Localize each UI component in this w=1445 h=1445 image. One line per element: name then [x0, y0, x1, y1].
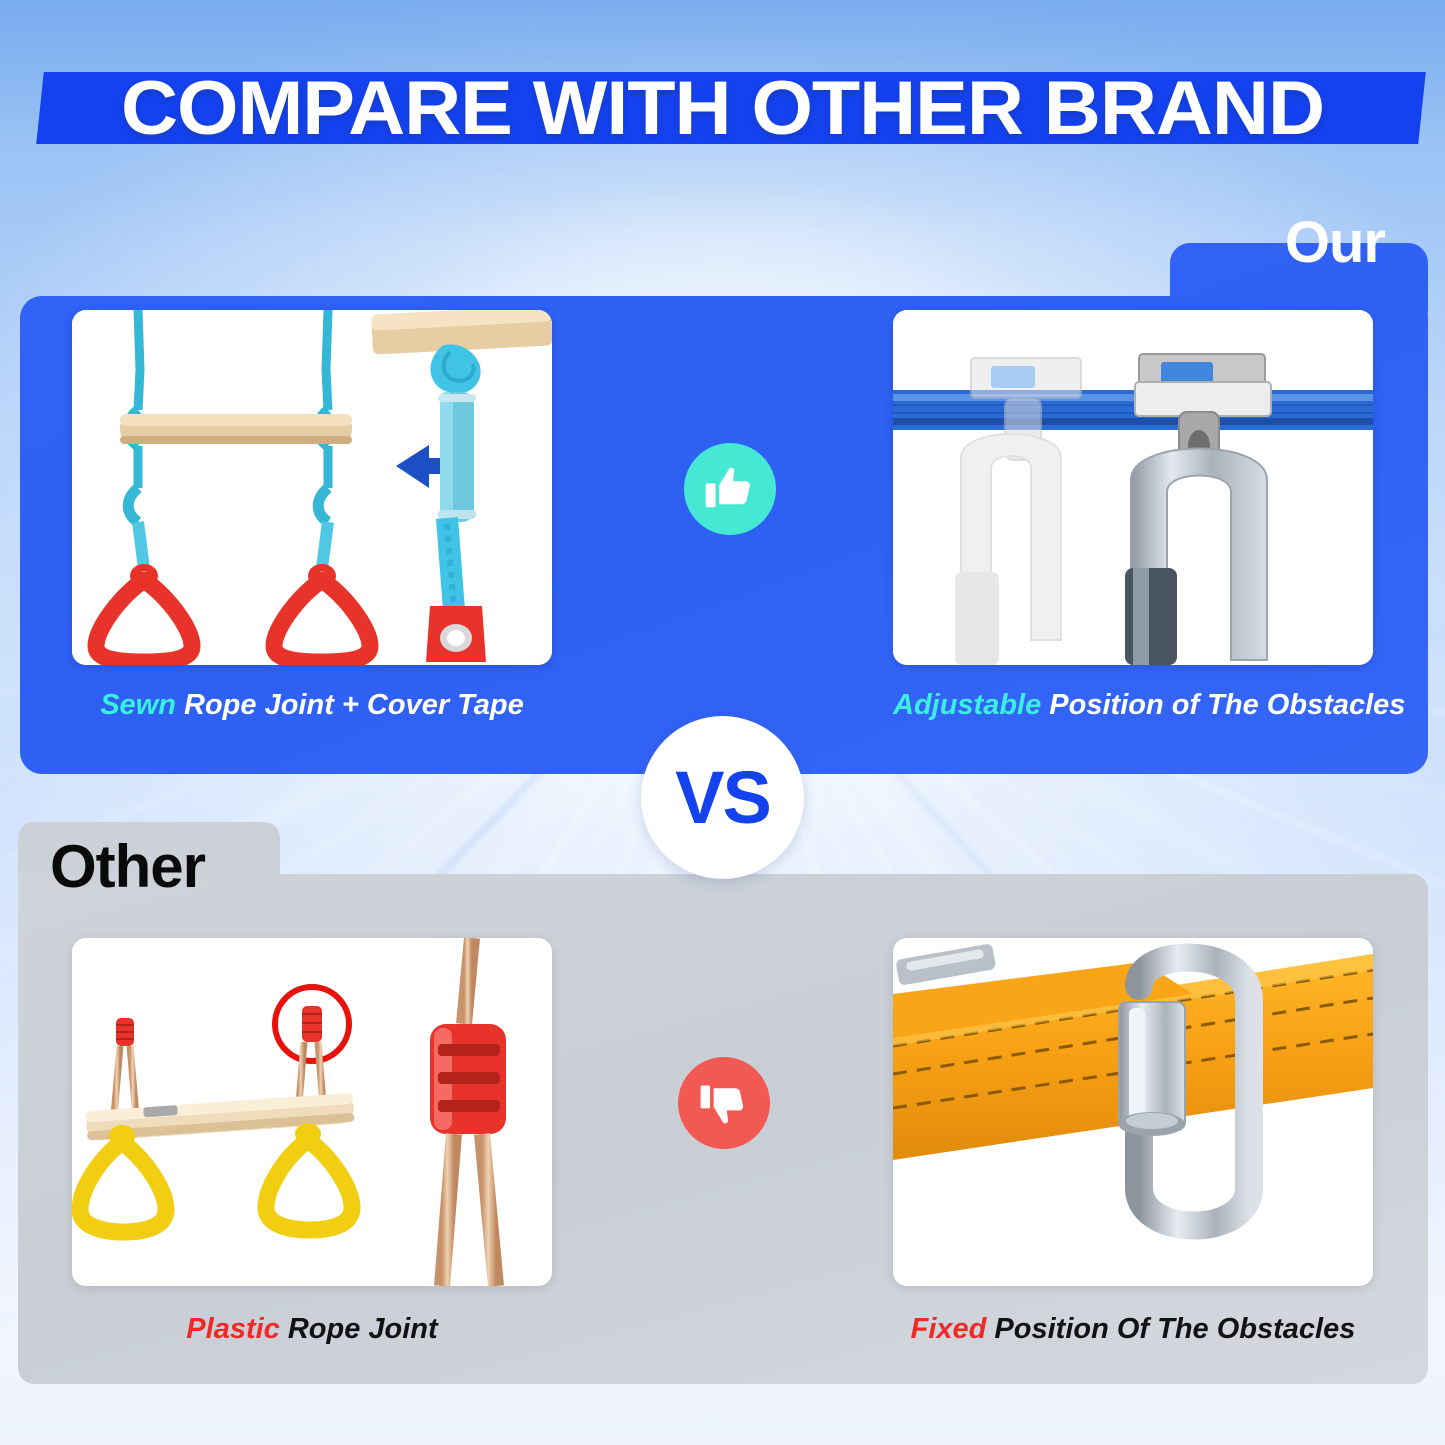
our-feature-image-rope-joint: [72, 310, 552, 665]
thumbs-down-icon: [678, 1057, 770, 1149]
other-caption-fixed-position: Fixed Position Of The Obstacles: [893, 1312, 1373, 1346]
our-tab-label: Our: [1285, 212, 1385, 274]
our-feature-image-adjustable-position: [893, 310, 1373, 665]
other-feature-image-plastic-joint: [72, 938, 552, 1286]
vs-badge: VS: [641, 716, 804, 879]
caption-highlight: Plastic: [186, 1313, 280, 1345]
page-title: COMPARE WITH OTHER BRAND: [0, 64, 1445, 154]
caption-rest: Rope Joint: [280, 1313, 438, 1345]
our-caption-rope-joint: Sewn Rope Joint + Cover Tape: [72, 688, 552, 722]
thumbs-up-icon: [684, 443, 776, 535]
vs-label: VS: [675, 761, 770, 835]
caption-rest: Rope Joint + Cover Tape: [176, 689, 524, 721]
caption-highlight: Fixed: [911, 1313, 987, 1345]
other-caption-plastic-joint: Plastic Rope Joint: [72, 1312, 552, 1346]
caption-rest: Position of The Obstacles: [1041, 689, 1405, 721]
caption-highlight: Sewn: [100, 689, 176, 721]
caption-highlight: Adjustable: [893, 689, 1041, 721]
caption-rest: Position Of The Obstacles: [986, 1313, 1355, 1345]
other-feature-image-fixed-position: [893, 938, 1373, 1286]
our-caption-adjustable-position: Adjustable Position of The Obstacles: [893, 688, 1373, 722]
other-tab-label: Other: [50, 832, 205, 902]
